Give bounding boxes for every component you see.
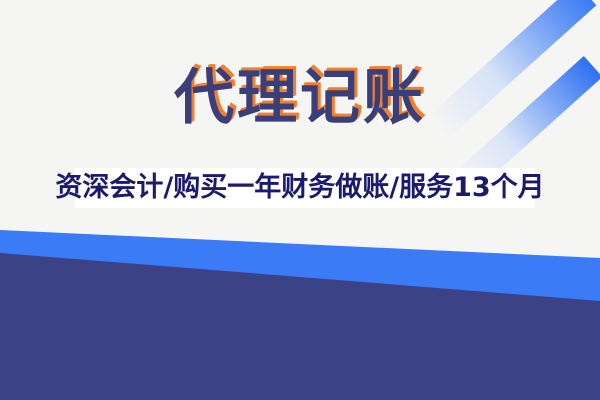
banner-subtitle: 资深会计/购买一年财务做账/服务13个月 [55, 169, 544, 207]
banner-title-container: 代理记账 [0, 62, 600, 134]
banner-title: 代理记账 [174, 62, 426, 134]
banner-subtitle-container: 资深会计/购买一年财务做账/服务13个月 [0, 169, 600, 207]
promo-banner: 代理记账 资深会计/购买一年财务做账/服务13个月 [0, 0, 600, 400]
